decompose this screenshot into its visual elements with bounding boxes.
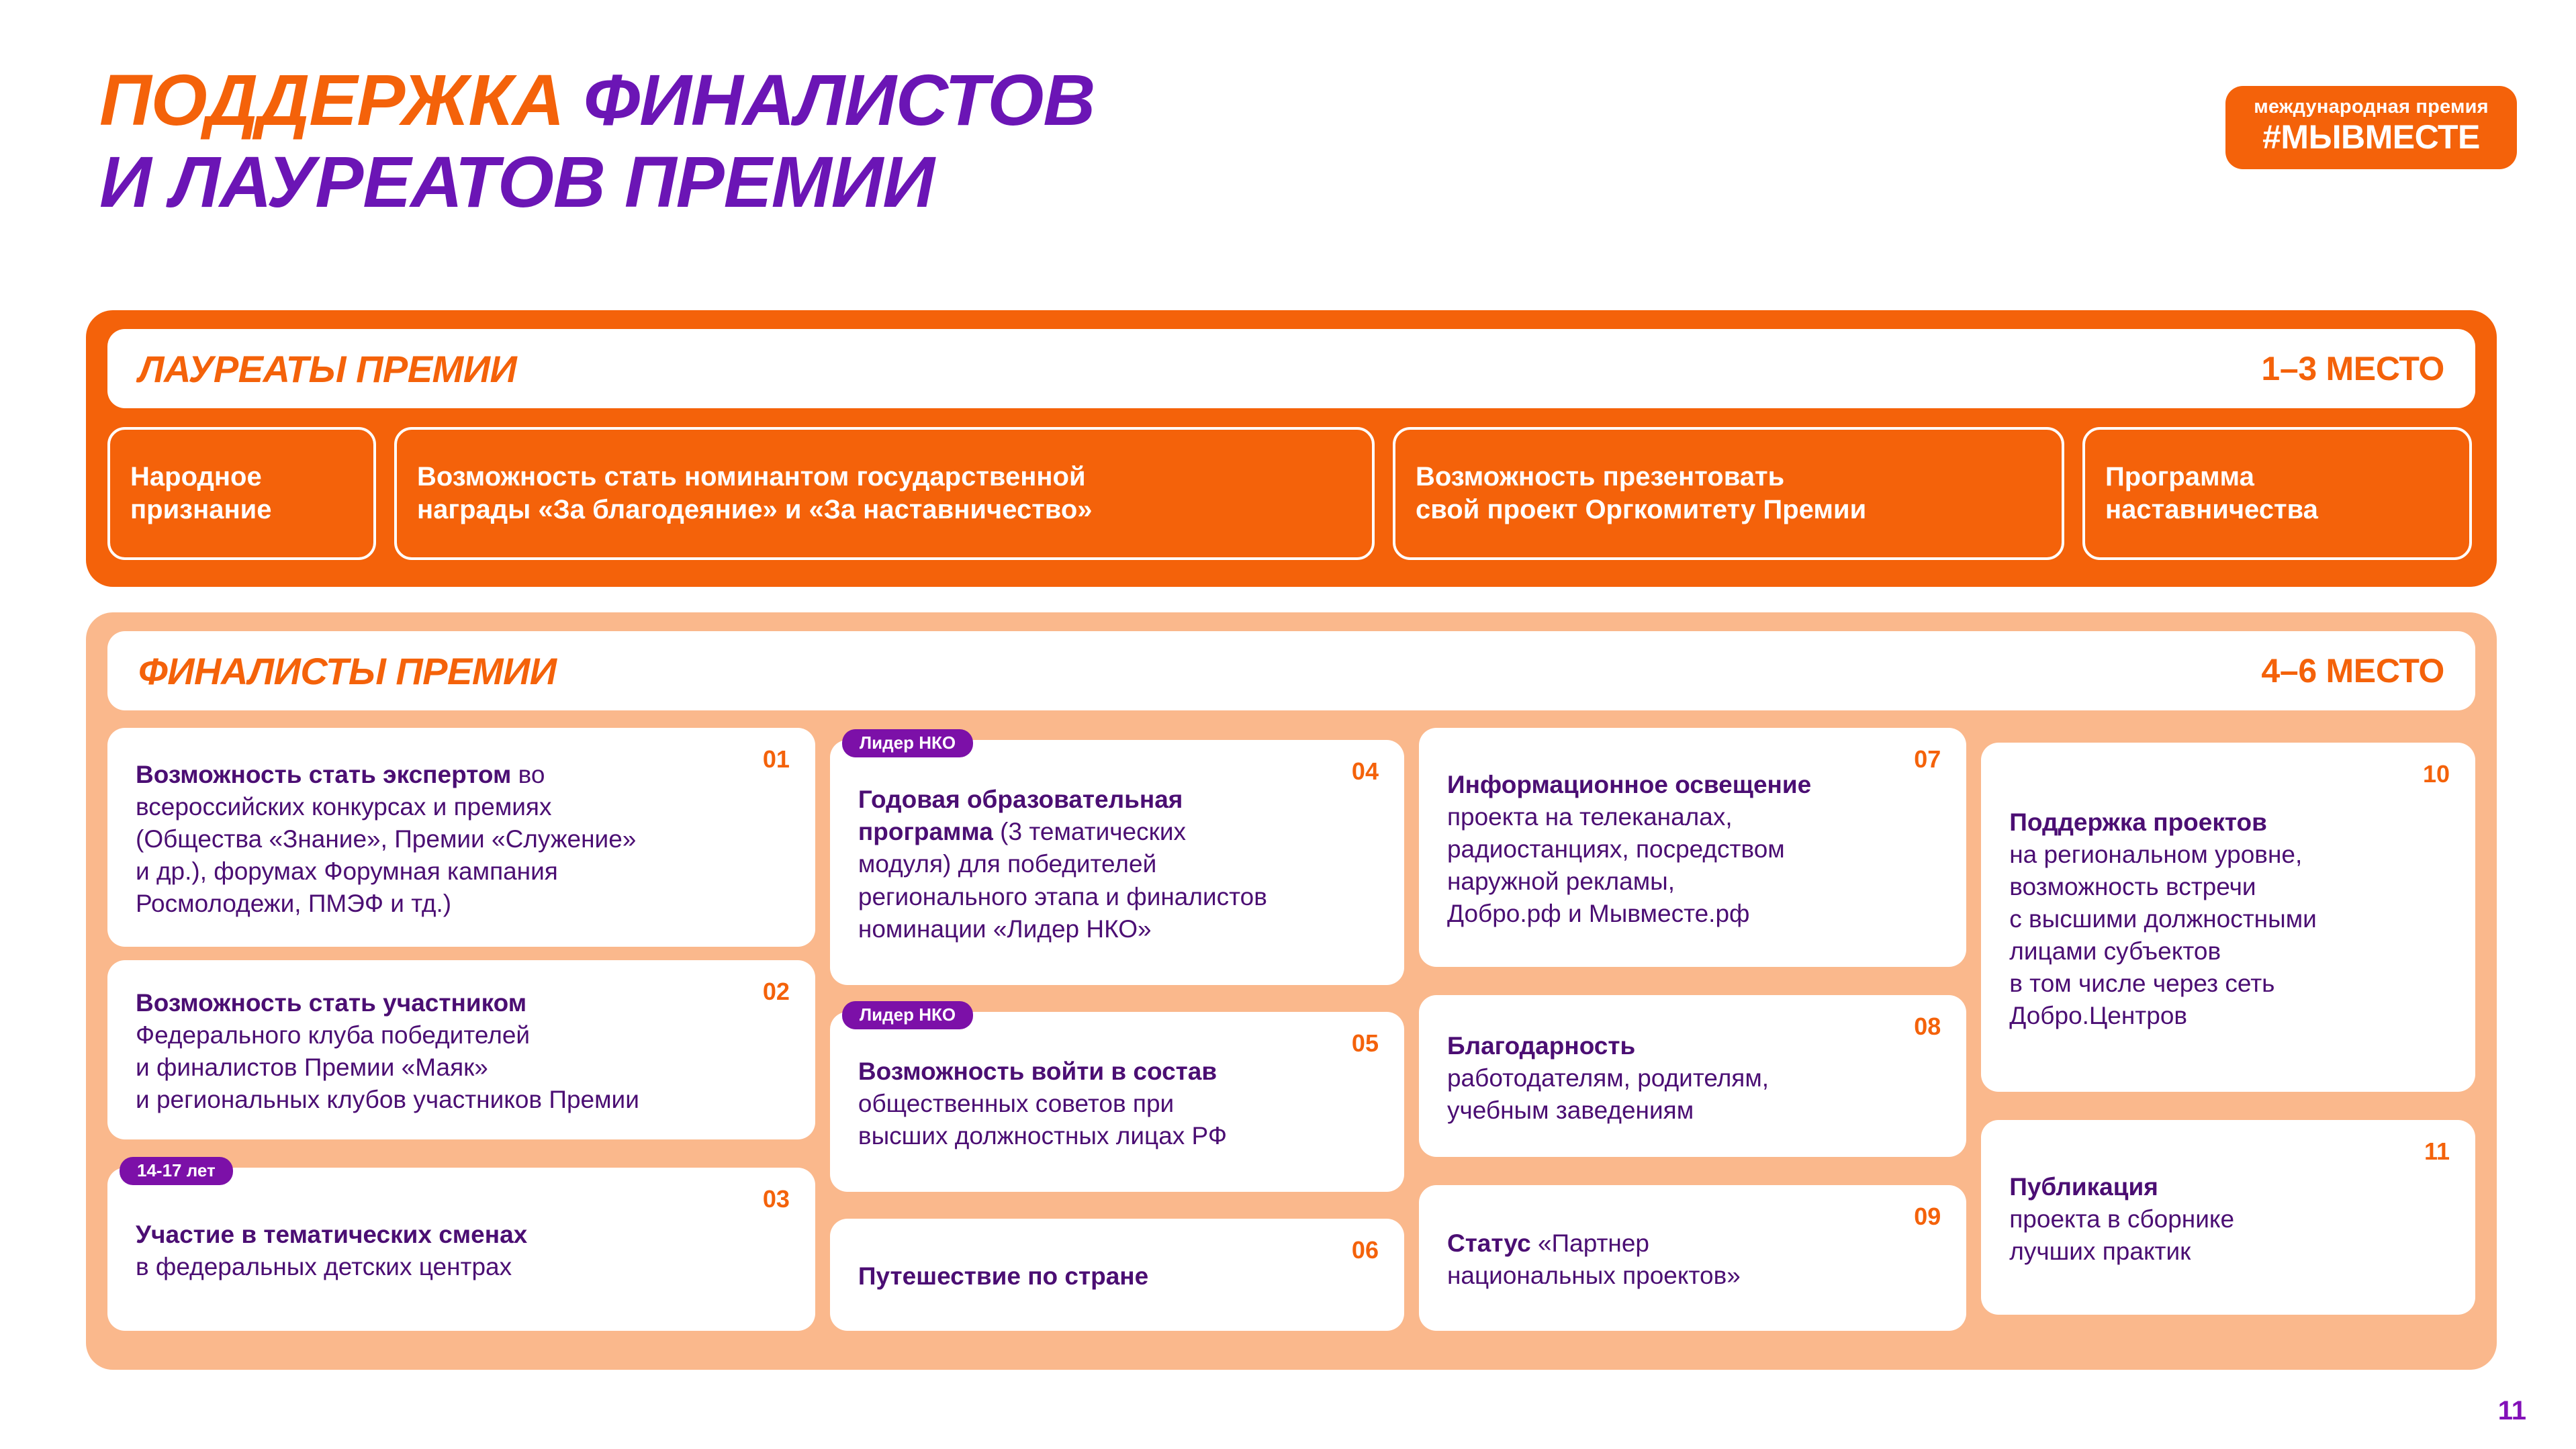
card-text-bold: Благодарность (1447, 1032, 1635, 1060)
card-text: Возможность стать экспертом во всероссий… (136, 759, 787, 920)
laureate-card[interactable]: Возможность презентовать свой проект Орг… (1393, 427, 2064, 560)
card-number: 01 (763, 745, 790, 774)
card-text-rest: общественных советов при высших должност… (858, 1090, 1227, 1150)
page-number: 11 (2498, 1396, 2526, 1426)
finalists-column: 01 Возможность стать экспертом во всерос… (107, 728, 815, 1331)
finalist-card-05[interactable]: Лидер НКО 05 Возможность войти в состав … (830, 1012, 1404, 1192)
finalists-column: 07 Информационное освещение проекта на т… (1419, 728, 1966, 1331)
finalists-section-title: ФИНАЛИСТЫ ПРЕМИИ (138, 649, 557, 693)
finalist-card-11[interactable]: 11 Публикация проекта в сборнике лучших … (1981, 1120, 2475, 1315)
card-number: 11 (2424, 1137, 2450, 1166)
card-text: Годовая образовательная программа (3 тем… (858, 784, 1376, 945)
laureates-section-title: ЛАУРЕАТЫ ПРЕМИИ (138, 347, 516, 391)
card-text-bold: Участие в тематических сменах (136, 1221, 527, 1248)
card-text: Возможность стать участником Федеральног… (136, 987, 787, 1116)
laureates-place-label: 1–3 МЕСТО (2261, 349, 2444, 388)
card-number: 06 (1352, 1236, 1379, 1264)
card-text-rest: Федерального клуба победителей и финалис… (136, 1021, 639, 1113)
card-text: Участие в тематических сменах в федераль… (136, 1219, 787, 1283)
finalists-header-bar: ФИНАЛИСТЫ ПРЕМИИ 4–6 МЕСТО (107, 631, 2475, 710)
finalist-card-10[interactable]: 10 Поддержка проектов на региональном ур… (1981, 743, 2475, 1092)
card-text: Публикация проекта в сборнике лучших пра… (2009, 1171, 2447, 1268)
card-number: 02 (763, 978, 790, 1006)
laureates-header-bar: ЛАУРЕАТЫ ПРЕМИИ 1–3 МЕСТО (107, 329, 2475, 408)
nomination-badge: Лидер НКО (842, 1001, 973, 1029)
card-text-rest: проекта в сборнике лучших практик (2009, 1205, 2234, 1265)
card-text: Благодарность работодателям, родителям, … (1447, 1030, 1938, 1127)
card-text-bold: Путешествие по стране (858, 1262, 1148, 1290)
card-text-bold: Поддержка проектов (2009, 808, 2267, 836)
finalists-column: Лидер НКО 04 Годовая образовательная про… (830, 728, 1404, 1331)
card-number: 08 (1914, 1013, 1941, 1041)
page-title: ПОДДЕРЖКА ФИНАЛИСТОВ И ЛАУРЕАТОВ ПРЕМИИ (99, 59, 1095, 223)
page-title-accent: ПОДДЕРЖКА (99, 59, 564, 140)
finalist-card-03[interactable]: 14-17 лет 03 Участие в тематических смен… (107, 1168, 815, 1331)
card-text-bold: Информационное освещение (1447, 771, 1811, 798)
card-text-bold: Возможность войти в состав (858, 1058, 1217, 1085)
card-text-bold: Возможность стать участником (136, 989, 526, 1017)
card-number: 03 (763, 1185, 790, 1213)
card-text-bold: Возможность стать экспертом (136, 761, 511, 788)
age-badge: 14-17 лет (120, 1157, 233, 1185)
card-text: Информационное освещение проекта на теле… (1447, 769, 1938, 930)
laureates-section: ЛАУРЕАТЫ ПРЕМИИ 1–3 МЕСТО Народное призн… (86, 310, 2497, 587)
finalist-card-09[interactable]: 09 Статус «Партнер национальных проектов… (1419, 1185, 1966, 1331)
finalists-column: 10 Поддержка проектов на региональном ур… (1981, 728, 2475, 1331)
laureates-card-row: Народное признание Возможность стать ном… (107, 427, 2475, 560)
finalist-card-02[interactable]: 02 Возможность стать участником Федераль… (107, 960, 815, 1139)
card-text-rest: проекта на телеканалах, радиостанциях, п… (1447, 803, 1785, 927)
finalists-place-label: 4–6 МЕСТО (2261, 651, 2444, 690)
finalist-card-07[interactable]: 07 Информационное освещение проекта на т… (1419, 728, 1966, 967)
card-text-rest: работодателям, родителям, учебным заведе… (1447, 1064, 1769, 1124)
finalist-card-01[interactable]: 01 Возможность стать экспертом во всерос… (107, 728, 815, 947)
brand-logo-hashtag: #МЫВМЕСТЕ (2225, 120, 2517, 155)
card-text-bold: Публикация (2009, 1173, 2158, 1201)
brand-logo-badge: международная премия #МЫВМЕСТЕ (2225, 86, 2517, 169)
slide-header: ПОДДЕРЖКА ФИНАЛИСТОВ И ЛАУРЕАТОВ ПРЕМИИ … (0, 0, 2576, 282)
finalist-card-04[interactable]: Лидер НКО 04 Годовая образовательная про… (830, 740, 1404, 985)
finalist-card-06[interactable]: 06 Путешествие по стране (830, 1219, 1404, 1331)
finalist-card-08[interactable]: 08 Благодарность работодателям, родителя… (1419, 995, 1966, 1156)
card-number: 07 (1914, 745, 1941, 774)
laureate-card[interactable]: Возможность стать номинантом государстве… (394, 427, 1375, 560)
finalists-card-grid: 01 Возможность стать экспертом во всерос… (107, 728, 2475, 1331)
finalists-section: ФИНАЛИСТЫ ПРЕМИИ 4–6 МЕСТО 01 Возможност… (86, 612, 2497, 1370)
card-text-rest: в федеральных детских центрах (136, 1253, 512, 1280)
laureate-card[interactable]: Программа наставничества (2082, 427, 2472, 560)
card-text: Статус «Партнер национальных проектов» (1447, 1227, 1938, 1292)
card-text-rest: на региональном уровне, возможность встр… (2009, 841, 2317, 1029)
nomination-badge: Лидер НКО (842, 729, 973, 757)
card-text: Возможность войти в состав общественных … (858, 1056, 1376, 1152)
card-number: 10 (2423, 760, 2450, 788)
card-text-bold: Статус (1447, 1229, 1531, 1257)
card-text: Поддержка проектов на региональном уровн… (2009, 806, 2447, 1033)
card-number: 04 (1352, 757, 1379, 786)
laureate-card[interactable]: Народное признание (107, 427, 376, 560)
card-number: 09 (1914, 1203, 1941, 1231)
card-text: Путешествие по стране (858, 1260, 1376, 1293)
card-number: 05 (1352, 1029, 1379, 1058)
brand-logo-subtitle: международная премия (2225, 97, 2517, 118)
